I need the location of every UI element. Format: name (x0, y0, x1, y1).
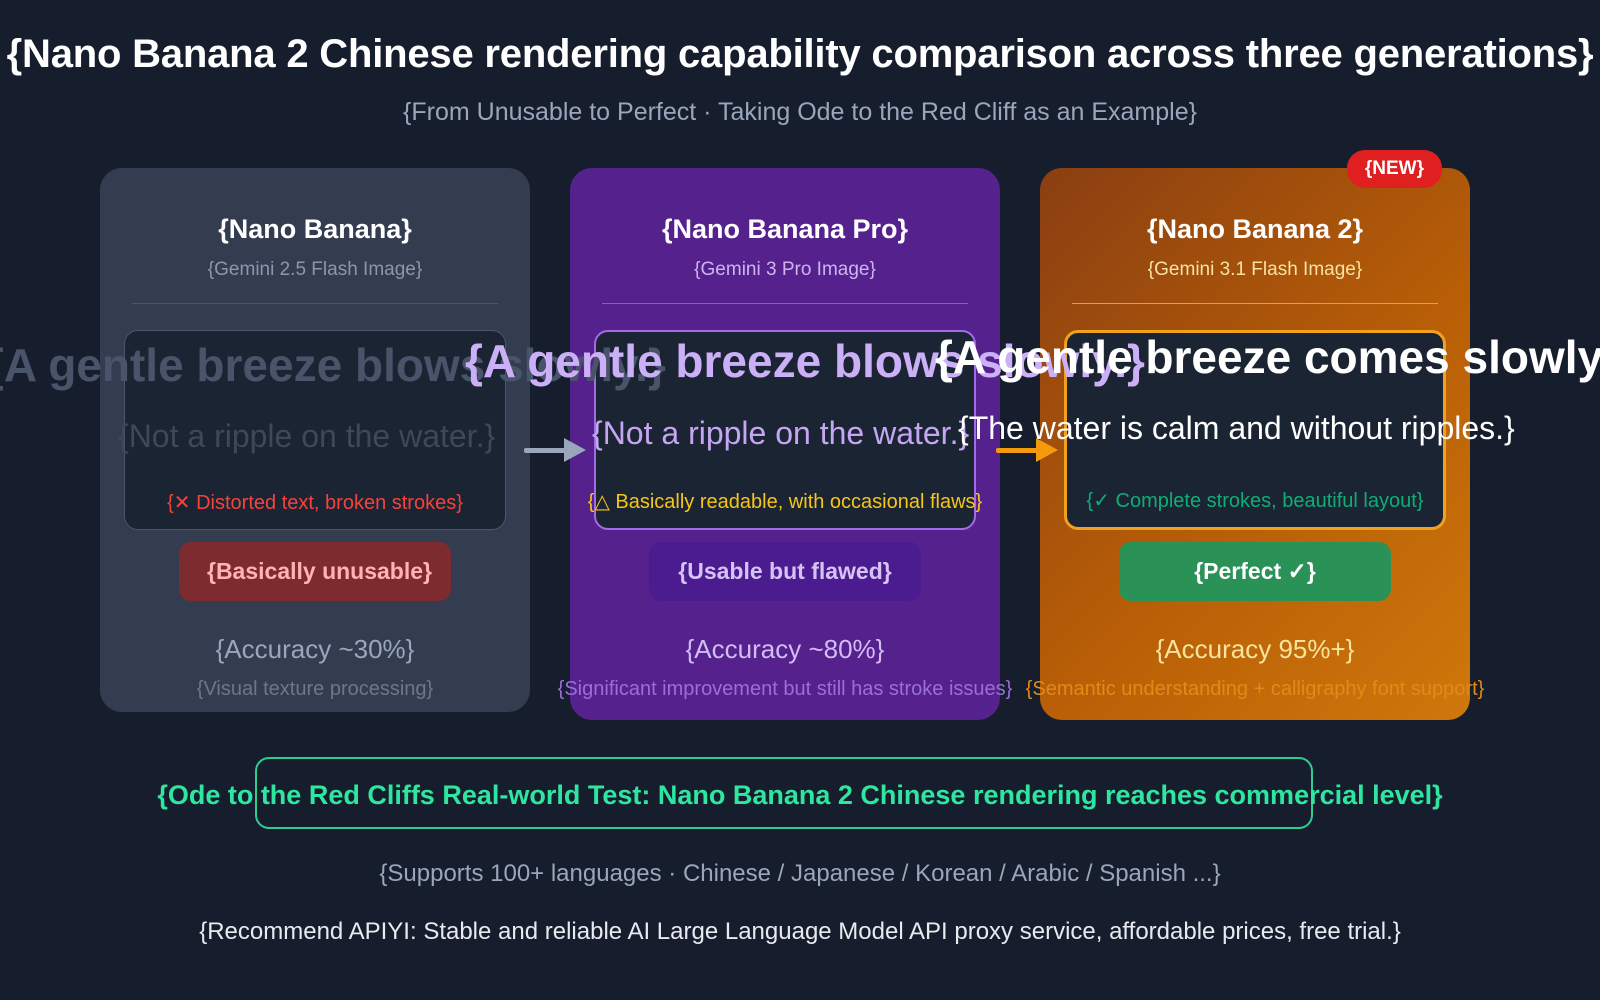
render-preview-box: {✓ Complete strokes, beautiful layout} (1064, 330, 1446, 530)
arrow-right-icon-gray (524, 438, 586, 462)
card-divider (602, 303, 968, 304)
render-preview-box: {✕ Distorted text, broken strokes} (124, 330, 506, 530)
accuracy-label: {Accuracy ~30%} (100, 634, 530, 665)
quality-note: {✕ Distorted text, broken strokes} (167, 490, 463, 515)
card-footnote: {Visual texture processing} (197, 678, 433, 701)
card-nano-banana-pro[interactable]: {Nano Banana Pro} {Gemini 3 Pro Image} {… (570, 168, 1000, 720)
verdict-badge[interactable]: {Perfect ✓} (1119, 542, 1391, 601)
card-title: {Nano Banana} (124, 214, 506, 245)
arrow-right-icon-orange (996, 438, 1058, 462)
card-model-name: {Gemini 2.5 Flash Image} (124, 259, 506, 281)
comparison-cards: {Nano Banana} {Gemini 2.5 Flash Image} {… (0, 168, 1600, 718)
arrow-head (564, 438, 586, 462)
card-divider (132, 303, 498, 304)
render-preview-box: {△ Basically readable, with occasional f… (594, 330, 976, 530)
card-title: {Nano Banana 2} (1064, 214, 1446, 245)
card-title: {Nano Banana Pro} (594, 214, 976, 245)
card-nano-banana[interactable]: {Nano Banana} {Gemini 2.5 Flash Image} {… (100, 168, 530, 712)
card-model-name: {Gemini 3 Pro Image} (594, 259, 976, 281)
card-model-name: {Gemini 3.1 Flash Image} (1064, 259, 1446, 281)
footer-recommendation: {Recommend APIYI: Stable and reliable AI… (199, 918, 1401, 946)
verdict-badge[interactable]: {Usable but flawed} (649, 542, 921, 601)
quality-note: {△ Basically readable, with occasional f… (588, 489, 982, 514)
card-divider (1072, 303, 1438, 304)
conclusion-text: {Ode to the Red Cliffs Real-world Test: … (157, 780, 1442, 811)
arrow-head (1036, 438, 1058, 462)
accuracy-label: {Accuracy 95%+} (1040, 634, 1470, 665)
quality-note: {✓ Complete strokes, beautiful layout} (1087, 488, 1424, 513)
accuracy-label: {Accuracy ~80%} (570, 634, 1000, 665)
infographic-stage: {Nano Banana 2 Chinese rendering capabil… (0, 0, 1600, 1000)
card-footnote: {Significant improvement but still has s… (558, 678, 1013, 701)
page-subtitle: {From Unusable to Perfect · Taking Ode t… (403, 98, 1197, 127)
card-footnote: {Semantic understanding + calligraphy fo… (1026, 678, 1485, 701)
page-title: {Nano Banana 2 Chinese rendering capabil… (7, 32, 1594, 77)
footer-languages: {Supports 100+ languages · Chinese / Jap… (379, 860, 1220, 888)
new-badge: {NEW} (1347, 150, 1442, 188)
verdict-badge[interactable]: {Basically unusable} (179, 542, 451, 601)
card-nano-banana-2[interactable]: {NEW} {Nano Banana 2} {Gemini 3.1 Flash … (1040, 168, 1470, 720)
